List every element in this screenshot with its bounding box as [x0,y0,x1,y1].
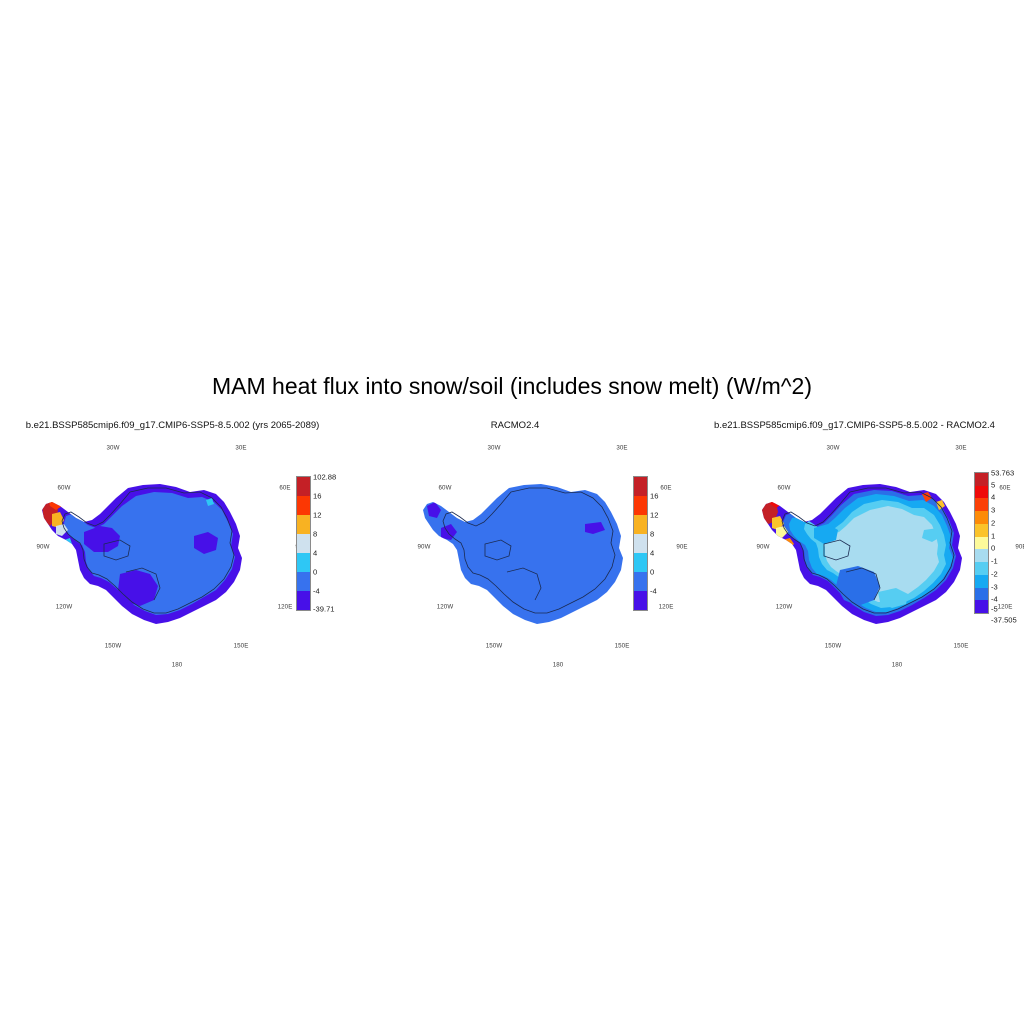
colorbar-strip-racmo [633,476,648,611]
colorbar-tick: 8 [313,530,317,539]
colorbar-band [975,511,988,524]
colorbar-band [975,549,988,562]
lon-label-90W: 90W [756,544,769,551]
lon-label-90W: 90W [417,544,430,551]
colorbar-strip-diff [974,472,989,614]
panel-model: b.e21.BSSP585cmip6.f09_g17.CMIP6-SSP5-8.… [0,420,345,680]
colorbar-tick: -5 [991,605,998,614]
panel-diff: b.e21.BSSP585cmip6.f09_g17.CMIP6-SSP5-8.… [685,420,1024,680]
colorbar-tick: 16 [650,492,658,501]
colorbar-tick: 12 [313,511,321,520]
colorbar-tick: -4 [991,595,998,604]
lon-label-150W: 150W [486,643,503,650]
lon-label-180: 180 [553,662,564,669]
colorbar-diff: 53.763 5 4 3 2 1 0 -1 -2 -3 -4 -5 -37.50… [974,472,1024,617]
colorbar-tick: 4 [313,549,317,558]
lon-label-60W: 60W [438,485,451,492]
colorbar-band [297,534,310,553]
lon-label-150E: 150E [234,643,249,650]
colorbar-tick: 5 [991,481,995,490]
lon-label-150E: 150E [954,643,969,650]
colorbar-tick: -37.505 [991,616,1017,625]
colorbar-band [297,553,310,572]
colorbar-tick: 0 [313,568,317,577]
panel-title-diff: b.e21.BSSP585cmip6.f09_g17.CMIP6-SSP5-8.… [685,420,1024,431]
colorbar-tick: -1 [991,557,998,566]
colorbar-band [634,496,647,515]
colorbar-band [975,537,988,550]
lon-label-30W: 30W [487,445,500,452]
lon-label-30W: 30W [106,445,119,452]
panel-title-racmo: RACMO2.4 [345,420,685,431]
colorbar-tick: 8 [650,530,654,539]
colorbar-tick: 4 [991,493,995,502]
lon-label-30E: 30E [955,445,966,452]
colorbar-tick: -4 [313,587,320,596]
lon-label-30E: 30E [616,445,627,452]
colorbar-band [975,524,988,537]
colorbar-band [975,588,988,601]
colorbar-tick: -39.71 [313,605,335,614]
colorbar-tick: 53.763 [991,469,1014,478]
colorbar-band [975,575,988,588]
colorbar-band [975,486,988,499]
colorbar-band [634,515,647,534]
colorbar-tick: 102.88 [313,473,336,482]
lon-label-30E: 30E [235,445,246,452]
colorbar-tick: 2 [991,519,995,528]
colorbar-band [297,515,310,534]
colorbar-tick: 3 [991,506,995,515]
figure-canvas: MAM heat flux into snow/soil (includes s… [0,0,1024,1024]
lon-label-180: 180 [892,662,903,669]
lon-label-150W: 150W [105,643,122,650]
colorbar-band [634,553,647,572]
colorbar-band [634,534,647,553]
colorbar-band [975,498,988,511]
lon-label-60E: 60E [279,485,290,492]
colorbar-band [634,572,647,591]
colorbar-band [634,477,647,496]
lon-label-30W: 30W [826,445,839,452]
lon-label-150W: 150W [825,643,842,650]
colorbar-band [634,591,647,610]
colorbar-band [297,591,310,610]
map-racmo: 30W 30E 60W 60E 90W 90E 120W 120E 150W 1… [389,440,659,670]
colorbar-band [975,562,988,575]
lon-label-150E: 150E [615,643,630,650]
map-model: 30W 30E 60W 60E 90W 90E 120W 120E 150W 1… [8,440,278,670]
colorbar-tick: 12 [650,511,658,520]
antarctica-map-model [8,440,278,670]
panel-racmo: RACMO2.4 30W 30E 60W 60E 90W 90E 120W 12… [345,420,685,680]
lon-label-60W: 60W [777,485,790,492]
colorbar-tick: -4 [650,587,657,596]
colorbar-tick: 0 [650,568,654,577]
antarctica-map-diff [728,440,998,670]
colorbar-band [297,572,310,591]
colorbar-tick: 0 [991,544,995,553]
panel-title-model: b.e21.BSSP585cmip6.f09_g17.CMIP6-SSP5-8.… [0,420,345,431]
lon-label-60W: 60W [57,485,70,492]
colorbar-strip-model [296,476,311,611]
lon-label-90W: 90W [36,544,49,551]
antarctica-map-racmo [389,440,659,670]
colorbar-band [297,477,310,496]
lon-label-120W: 120W [776,604,793,611]
colorbar-tick: 16 [313,492,321,501]
figure-title: MAM heat flux into snow/soil (includes s… [0,373,1024,400]
colorbar-band [975,473,988,486]
lon-label-120W: 120W [437,604,454,611]
map-diff: 30W 30E 60W 60E 90W 90E 120W 120E 150W 1… [728,440,998,670]
lon-label-180: 180 [172,662,183,669]
colorbar-tick: 1 [991,532,995,541]
colorbar-tick: 4 [650,549,654,558]
colorbar-band [297,496,310,515]
lon-label-120W: 120W [56,604,73,611]
colorbar-tick: -3 [991,583,998,592]
colorbar-ticks-diff: 53.763 5 4 3 2 1 0 -1 -2 -3 -4 -5 -37.50… [991,472,1024,617]
colorbar-band [975,600,988,613]
lon-label-120E: 120E [278,604,293,611]
colorbar-tick: -2 [991,570,998,579]
